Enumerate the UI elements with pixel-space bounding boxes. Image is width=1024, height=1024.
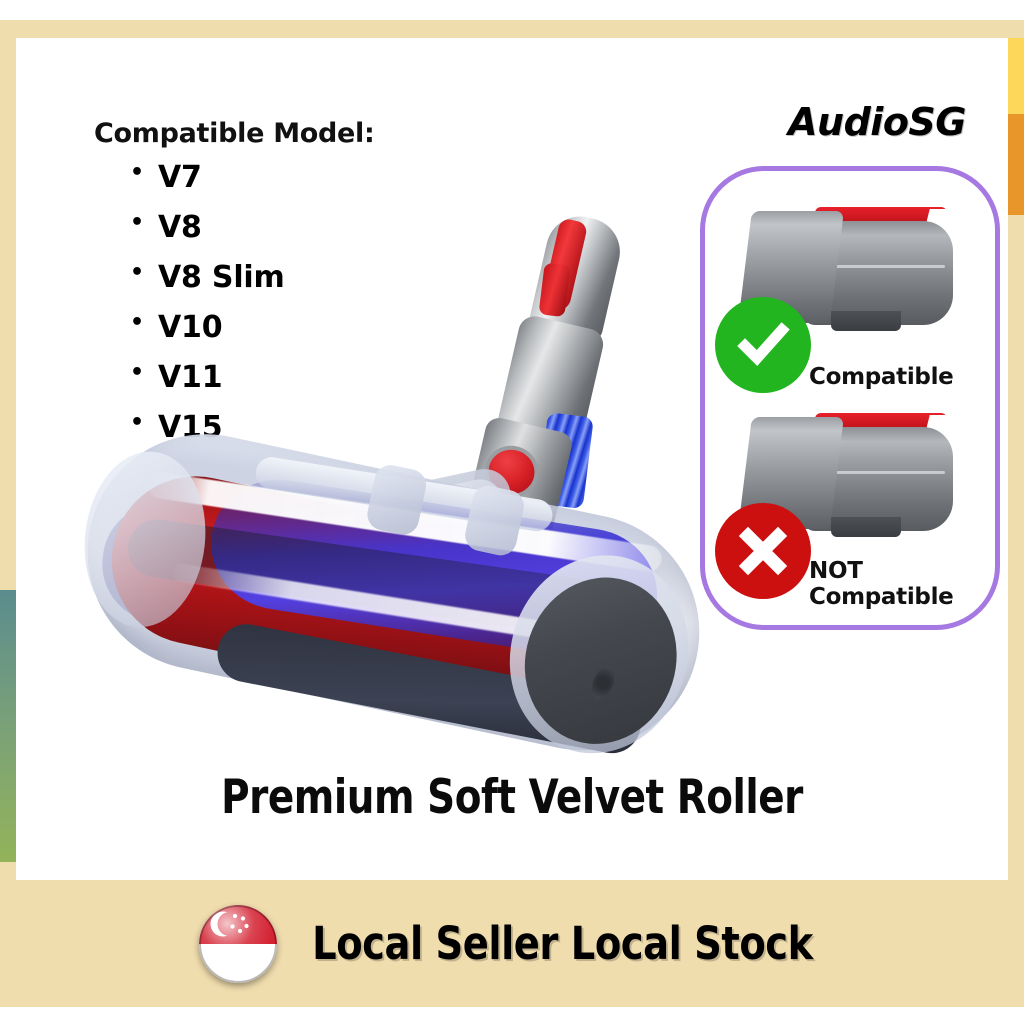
brand-logo: AudioSG (788, 100, 966, 144)
check-icon (735, 317, 791, 373)
content-card: AudioSG Compatible Model: V7 V8 V8 Slim … (16, 38, 1008, 880)
accent-strip-left (0, 590, 16, 862)
not-compatible-label-line1: NOT (809, 559, 953, 585)
not-compatible-label: NOT Compatible (809, 559, 953, 611)
cross-icon (736, 524, 790, 578)
compatible-label: Compatible (809, 365, 953, 391)
connector-barrel-seam (829, 265, 945, 268)
connector-latch-tab (831, 311, 901, 331)
accent-strip-right (1008, 38, 1024, 215)
compatibility-inset-panel: Compatible NOT Compatible (700, 166, 1000, 630)
local-seller-banner: Local Seller Local Stock (0, 880, 1024, 1007)
compatible-badge (715, 297, 811, 393)
product-photo (76, 188, 736, 788)
banner-text: Local Seller Local Stock (312, 917, 813, 970)
singapore-flag-icon (199, 905, 277, 983)
roller-head-assembly (63, 412, 721, 785)
compatible-models-heading: Compatible Model: (94, 118, 375, 149)
connector-barrel-seam (829, 471, 945, 474)
product-listing-image: AudioSG Compatible Model: V7 V8 V8 Slim … (0, 0, 1024, 1024)
not-compatible-badge (715, 503, 811, 599)
page-title: Premium Soft Velvet Roller (41, 770, 983, 825)
not-compatible-label-line2: Compatible (809, 585, 953, 611)
connector-latch-tab (831, 517, 901, 537)
